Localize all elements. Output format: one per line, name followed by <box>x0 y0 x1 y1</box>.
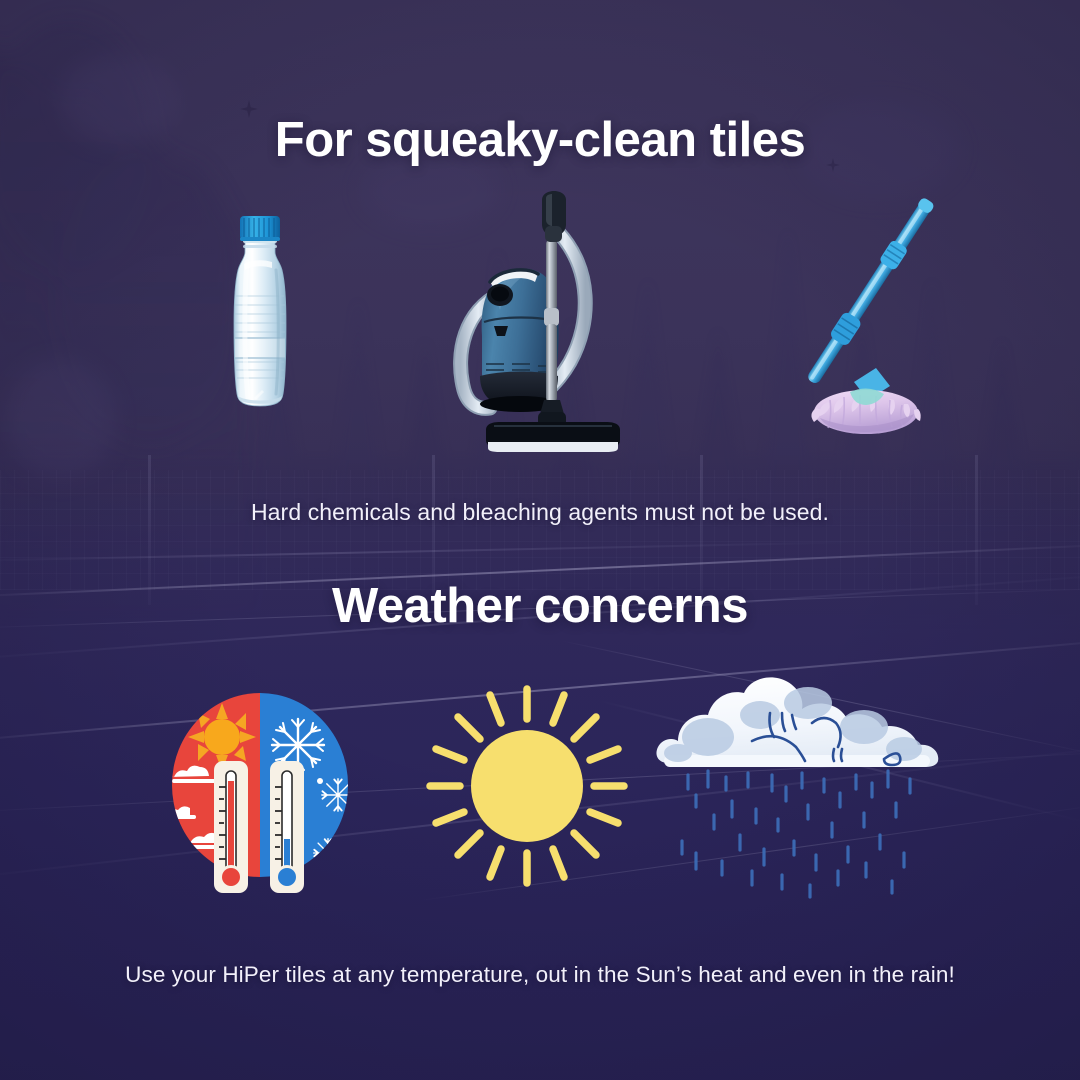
page-title-weather: Weather concerns <box>0 578 1080 634</box>
poster-canvas: For squeaky-clean tiles <box>0 0 1080 1080</box>
cleaning-icon-row <box>0 190 1080 470</box>
vacuum-cleaner-icon <box>442 190 622 458</box>
background-fence <box>0 470 1080 590</box>
water-bottle-icon <box>214 212 306 412</box>
mop-icon <box>780 196 940 446</box>
sun-icon <box>424 683 630 889</box>
cleaning-caption: Hard chemicals and bleaching agents must… <box>0 499 1080 526</box>
weather-caption: Use your HiPer tiles at any temperature,… <box>0 962 1080 988</box>
weather-icon-row <box>0 675 1080 905</box>
hot-cold-thermometer-icon <box>160 685 360 905</box>
page-title-cleaning: For squeaky-clean tiles <box>0 112 1080 168</box>
rain-cloud-icon <box>652 675 942 905</box>
